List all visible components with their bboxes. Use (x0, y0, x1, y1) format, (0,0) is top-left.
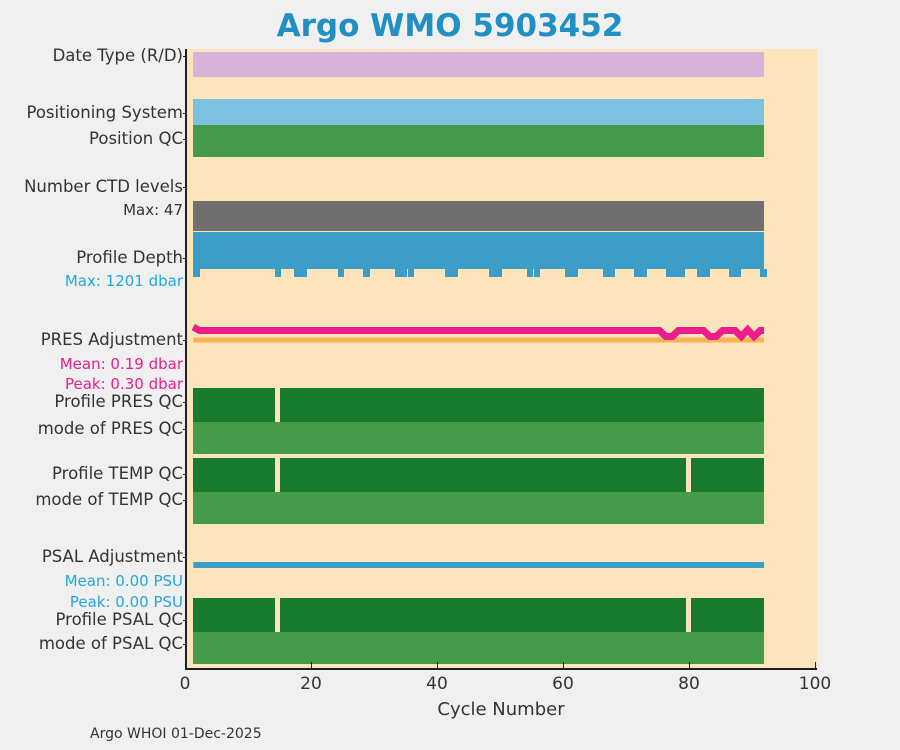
bar-profile-temp-qc-seg2 (280, 458, 686, 492)
depth-column (452, 269, 458, 277)
bar-mode-of-temp-qc (193, 492, 764, 524)
y-label-pres-adjustment-sub1: Mean: 0.19 dbar (1, 354, 183, 374)
bar-number-ctd-levels (193, 201, 764, 231)
bar-position-qc (193, 125, 764, 157)
bar-profile-pres-qc-seg2 (280, 388, 764, 422)
y-label-pres-adjustment-sub2: Peak: 0.30 dbar (1, 374, 183, 394)
bar-positioning-system (193, 99, 764, 125)
y-label-profile-pres-qc: Profile PRES QC (1, 392, 183, 412)
depth-column (678, 269, 684, 277)
y-label-profile-depth: Profile Depth (1, 248, 183, 268)
depth-column (534, 269, 540, 277)
figure-root: Argo WMO 5903452 Date Type (R/D)Position… (0, 0, 900, 750)
bar-profile-pres-qc (193, 388, 275, 422)
x-tick-label-20: 20 (300, 674, 322, 694)
x-axis-title: Cycle Number (185, 699, 817, 720)
x-axis-line (185, 668, 817, 670)
bar-profile-temp-qc-seg3 (691, 458, 764, 492)
bar-date-type (193, 52, 764, 77)
bar-mode-of-pres-qc (193, 422, 764, 454)
y-label-position-qc: Position QC (1, 129, 183, 149)
y-label-number-ctd-levels: Number CTD levels (1, 177, 183, 197)
depth-column (641, 269, 647, 277)
y-label-positioning-system: Positioning System (1, 103, 183, 123)
bar-mode-of-psal-qc (193, 632, 764, 664)
bar-profile-psal-qc (193, 598, 275, 632)
depth-column (338, 269, 344, 277)
bar-profile-psal-qc-seg3 (691, 598, 764, 632)
depth-column (609, 269, 615, 277)
x-axis-ticks: 020406080100 (185, 662, 817, 672)
y-label-psal-adjustment: PSAL Adjustment (1, 547, 183, 567)
depth-column (193, 269, 199, 277)
bar-profile-psal-qc-seg2 (280, 598, 686, 632)
x-tick-label-40: 40 (426, 674, 448, 694)
y-label-psal-adjustment-sub2: Peak: 0.00 PSU (1, 592, 183, 612)
depth-column (704, 269, 710, 277)
y-label-mode-of-temp-qc: mode of TEMP QC (1, 490, 183, 510)
plot-area (185, 49, 817, 669)
y-label-psal-adjustment-sub1: Mean: 0.00 PSU (1, 571, 183, 591)
bar-profile-depth (193, 232, 764, 269)
y-label-mode-of-psal-qc: mode of PSAL QC (1, 634, 183, 654)
bar-profile-temp-qc (193, 458, 275, 492)
y-label-number-ctd-levels-sub1: Max: 47 (1, 200, 183, 220)
y-label-date-type: Date Type (R/D) (1, 46, 183, 66)
depth-column (760, 269, 766, 277)
depth-column (496, 269, 502, 277)
footer-credit: Argo WHOI 01-Dec-2025 (90, 726, 262, 742)
y-label-mode-of-pres-qc: mode of PRES QC (1, 419, 183, 439)
plot-inner (187, 49, 817, 669)
depth-column (300, 269, 306, 277)
y-label-profile-psal-qc: Profile PSAL QC (1, 610, 183, 630)
x-tick-label-80: 80 (678, 674, 700, 694)
y-axis-labels: Date Type (R/D)Positioning SystemPositio… (0, 0, 183, 750)
x-tick-label-0: 0 (180, 674, 191, 694)
depth-column (408, 269, 414, 277)
y-label-pres-adjustment: PRES Adjustment (1, 330, 183, 350)
y-label-profile-temp-qc: Profile TEMP QC (1, 464, 183, 484)
depth-column (275, 269, 281, 277)
y-label-profile-depth-sub1: Max: 1201 dbar (1, 271, 183, 291)
data-line-pres-adjustment (193, 327, 764, 336)
depth-column (571, 269, 577, 277)
x-tick-label-60: 60 (552, 674, 574, 694)
x-tick-label-100: 100 (799, 674, 831, 694)
depth-column (363, 269, 369, 277)
depth-column (735, 269, 741, 277)
